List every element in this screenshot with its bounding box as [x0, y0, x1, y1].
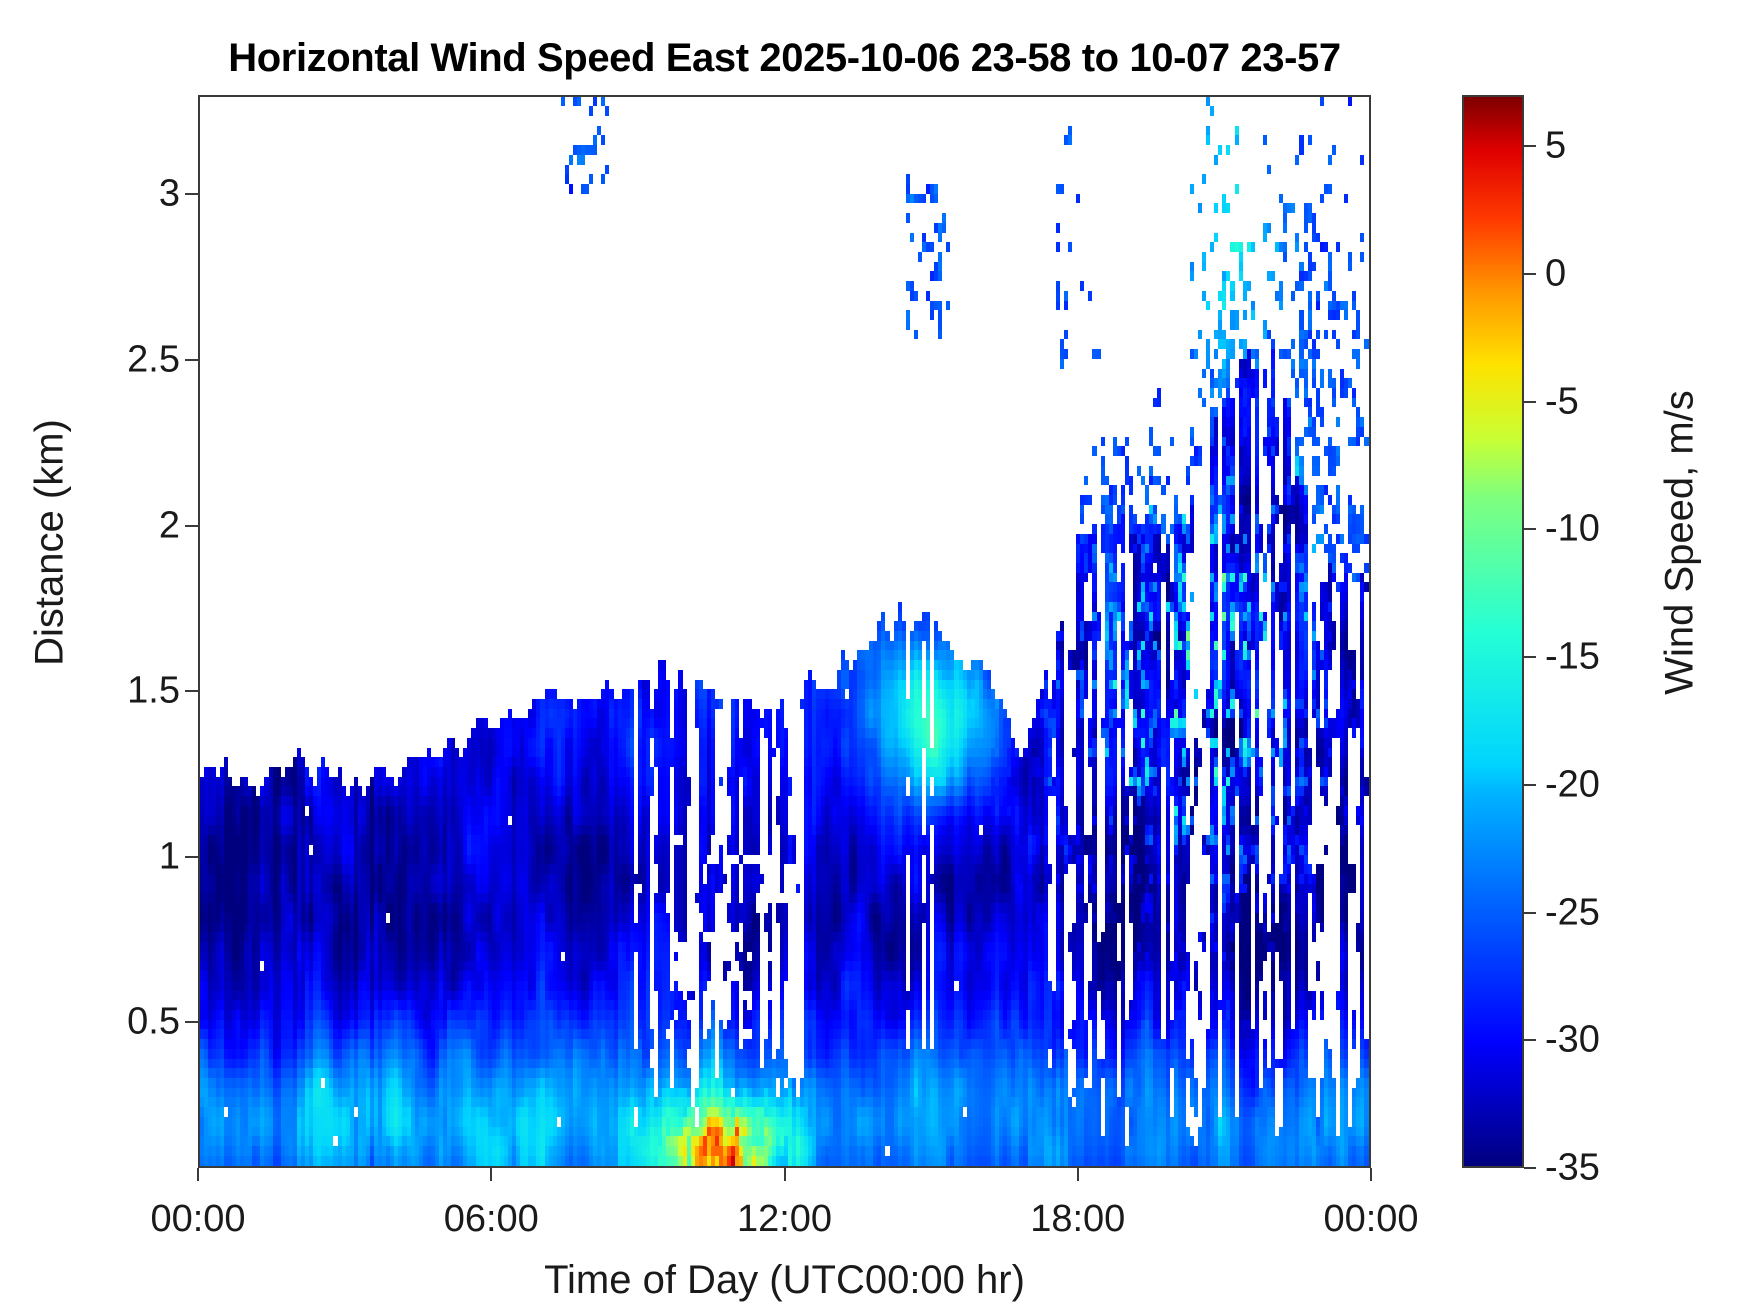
colorbar-tick-label: -35 [1545, 1147, 1600, 1190]
y-tick-label: 1.5 [127, 670, 180, 713]
figure-canvas: Horizontal Wind Speed East 2025-10-06 23… [0, 0, 1750, 1313]
colorbar-tick-mark [1524, 1167, 1536, 1169]
colorbar-tick-label: 0 [1545, 252, 1566, 295]
x-tick-mark [197, 1168, 199, 1181]
y-tick-mark [185, 1021, 198, 1023]
x-tick-label: 00:00 [1323, 1198, 1418, 1241]
colorbar-tick-mark [1524, 401, 1536, 403]
y-axis-label: Distance (km) [28, 343, 73, 743]
colorbar-tick-mark [1524, 912, 1536, 914]
y-tick-mark [185, 359, 198, 361]
colorbar-tick-mark [1524, 784, 1536, 786]
x-tick-mark [1370, 1168, 1372, 1181]
y-tick-mark [185, 690, 198, 692]
y-tick-label: 2 [159, 504, 180, 547]
colorbar-tick-mark [1524, 273, 1536, 275]
colorbar-tick-mark [1524, 145, 1536, 147]
colorbar-label: Wind Speed, m/s [1658, 343, 1703, 743]
colorbar-tick-label: -10 [1545, 508, 1600, 551]
x-axis-label: Time of Day (UTC00:00 hr) [198, 1258, 1371, 1303]
colorbar[interactable] [1462, 95, 1524, 1168]
y-tick-mark [185, 525, 198, 527]
x-tick-mark [1077, 1168, 1079, 1181]
y-tick-mark [185, 193, 198, 195]
colorbar-tick-label: -20 [1545, 763, 1600, 806]
x-tick-mark [490, 1168, 492, 1181]
x-tick-label: 18:00 [1030, 1198, 1125, 1241]
x-tick-mark [784, 1168, 786, 1181]
colorbar-tick-mark [1524, 1039, 1536, 1041]
colorbar-gradient [1462, 95, 1524, 1168]
colorbar-tick-mark [1524, 528, 1536, 530]
x-tick-label: 00:00 [150, 1198, 245, 1241]
y-tick-label: 1 [159, 835, 180, 878]
colorbar-tick-label: -15 [1545, 636, 1600, 679]
colorbar-tick-mark [1524, 656, 1536, 658]
y-tick-label: 2.5 [127, 338, 180, 381]
y-tick-label: 0.5 [127, 1001, 180, 1044]
wind-speed-heatmap [200, 97, 1369, 1166]
heatmap-axes[interactable] [198, 95, 1371, 1168]
colorbar-tick-label: 5 [1545, 125, 1566, 168]
x-tick-label: 12:00 [737, 1198, 832, 1241]
y-tick-label: 3 [159, 173, 180, 216]
colorbar-tick-label: -25 [1545, 891, 1600, 934]
colorbar-tick-label: -30 [1545, 1019, 1600, 1062]
y-tick-mark [185, 856, 198, 858]
colorbar-tick-label: -5 [1545, 380, 1579, 423]
x-tick-label: 06:00 [444, 1198, 539, 1241]
page-title: Horizontal Wind Speed East 2025-10-06 23… [198, 36, 1371, 81]
